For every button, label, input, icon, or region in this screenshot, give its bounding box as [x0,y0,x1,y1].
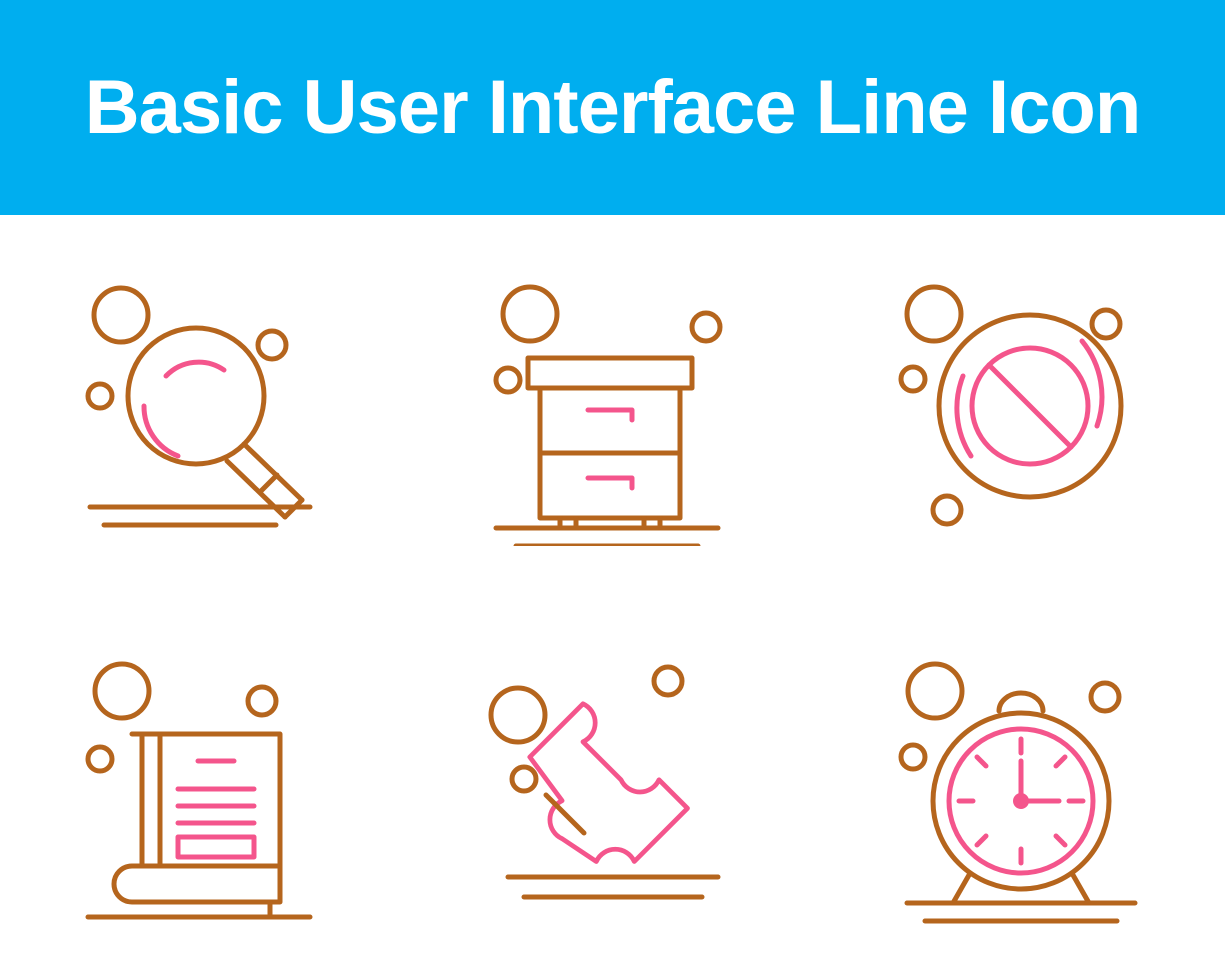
icon-grid [0,215,1225,980]
icon-cell-book[interactable] [0,598,408,980]
icon-cell-alarm-clock[interactable] [817,598,1225,980]
icon-set-page: Basic User Interface Line Icon [0,0,1225,980]
puzzle-piece-icon [482,649,742,929]
icon-cell-drawer-cabinet[interactable] [408,215,816,598]
magnifying-glass-icon [74,266,334,546]
page-title: Basic User Interface Line Icon [85,70,1141,146]
icon-cell-puzzle-piece[interactable] [408,598,816,980]
drawer-cabinet-icon [482,266,742,546]
icon-cell-blocked[interactable] [817,215,1225,598]
icon-cell-magnifying-glass[interactable] [0,215,408,598]
book-icon [74,649,334,929]
header-banner: Basic User Interface Line Icon [0,0,1225,215]
alarm-clock-icon [891,649,1151,929]
blocked-prohibited-icon [891,266,1151,546]
